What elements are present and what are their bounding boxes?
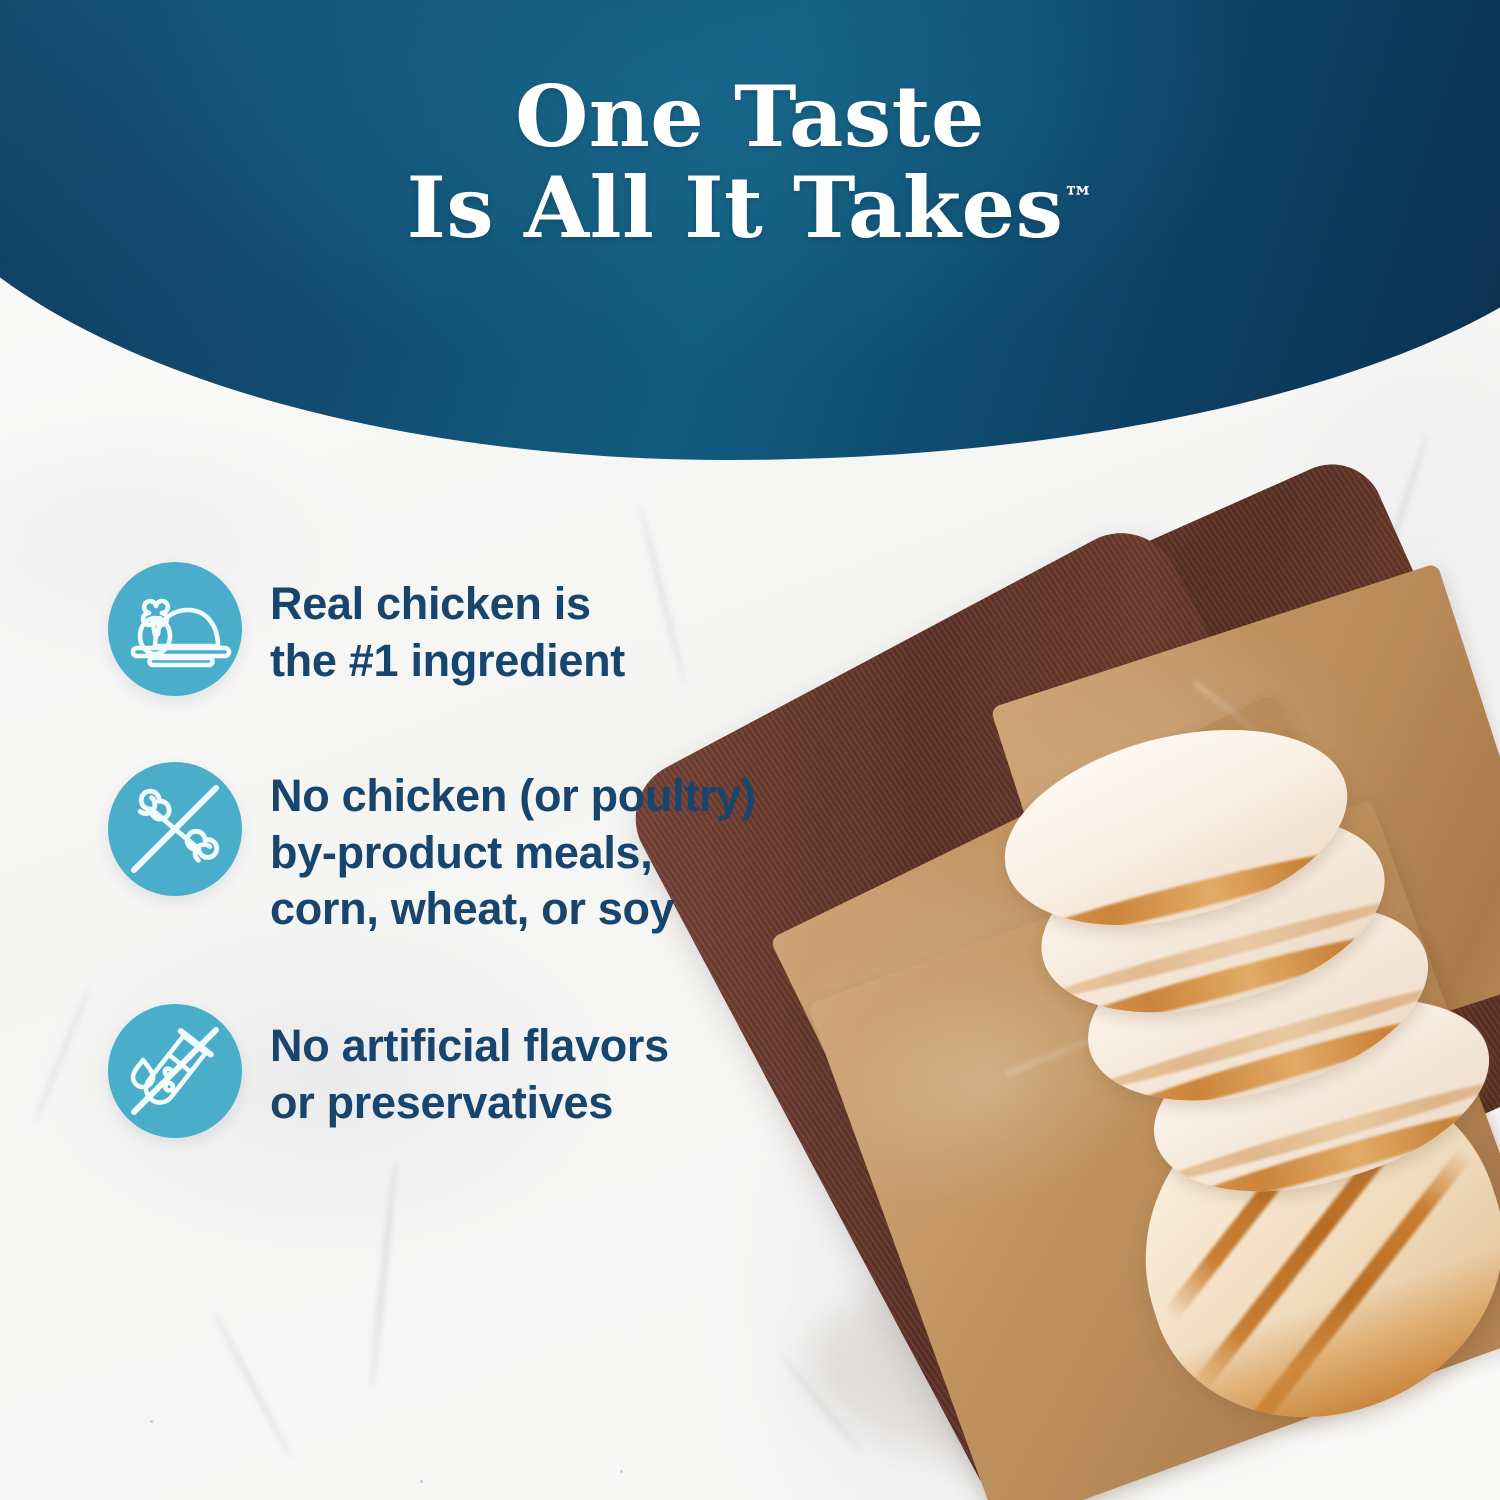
promo-image-canvas: One Taste Is All It Takes™ [0,0,1500,1500]
benefit-badge [108,562,242,696]
marble-speck [150,1420,153,1423]
benefit-text: No artificial flavors or preservatives [270,1004,669,1131]
no-bone-icon [108,762,242,896]
benefit-item-no-byproducts: No chicken (or poultry) by-product meals… [108,762,908,938]
marble-speck [620,1470,623,1473]
benefit-text: Real chicken is the #1 ingredient [270,562,625,689]
headline: One Taste Is All It Takes™ [0,72,1500,253]
headline-line-2: Is All It Takes™ [0,163,1500,254]
benefit-badge [108,762,242,896]
benefit-item-real-chicken: Real chicken is the #1 ingredient [108,562,908,696]
headline-line-1: One Taste [0,72,1500,163]
no-test-tube-icon [108,1004,242,1138]
trademark-symbol: ™ [1063,181,1093,216]
roast-chicken-platter-icon [108,562,242,696]
marble-speck [420,1480,423,1483]
benefit-text: No chicken (or poultry) by-product meals… [270,762,756,938]
headline-line-2-text: Is All It Takes [407,158,1064,257]
benefit-list: Real chicken is the #1 ingredient [108,562,908,1138]
benefit-badge [108,1004,242,1138]
benefit-item-no-artificial: No artificial flavors or preservatives [108,1004,908,1138]
